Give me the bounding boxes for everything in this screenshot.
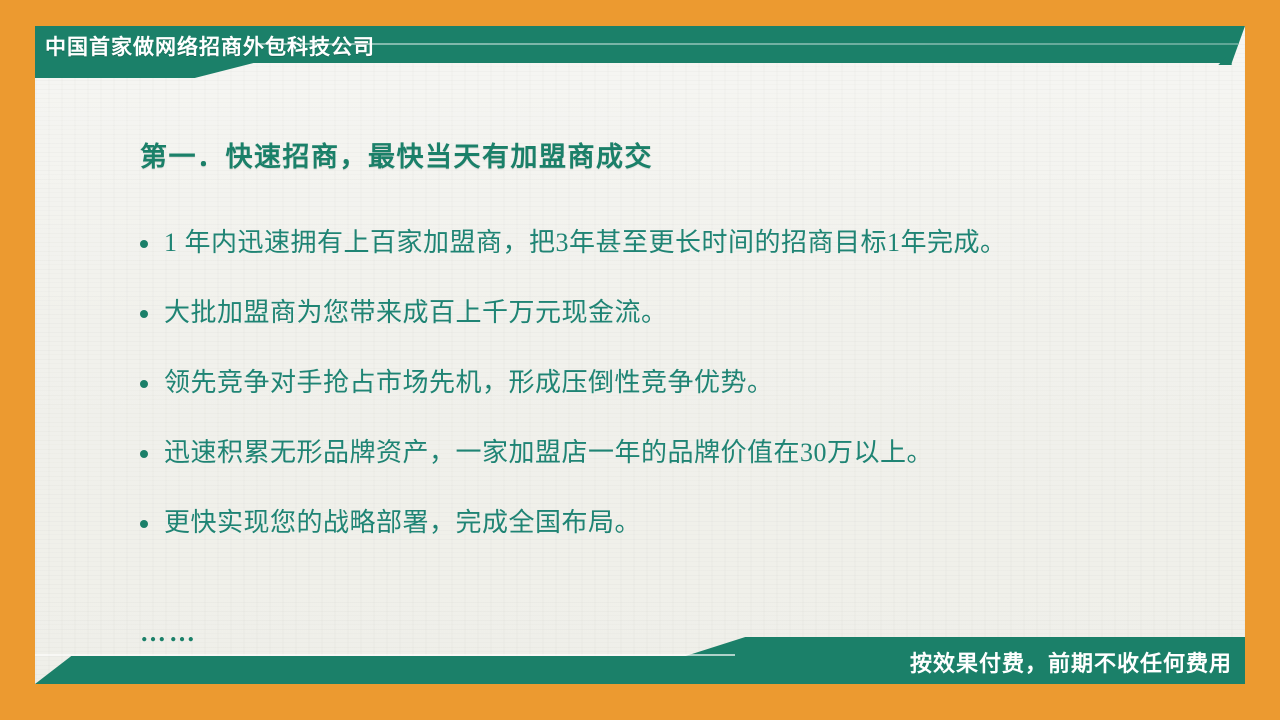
footer-divider-line	[35, 654, 735, 656]
bullet-dot-icon	[140, 380, 148, 388]
bullet-dot-icon	[140, 450, 148, 458]
list-item: 领先竞争对手抢占市场先机，形成压倒性竞争优势。	[140, 368, 1245, 398]
footer-slogan: 按效果付费，前期不收任何费用	[910, 645, 1232, 679]
list-item-text: 迅速积累无形品牌资产，一家加盟店一年的品牌价值在30万以上。	[164, 438, 933, 468]
header-company-tagline: 中国首家做网络招商外包科技公司	[45, 28, 375, 63]
bullet-list: 1 年内迅速拥有上百家加盟商，把3年甚至更长时间的招商目标1年完成。 大批加盟商…	[140, 228, 1245, 578]
list-item-text: 1 年内迅速拥有上百家加盟商，把3年甚至更长时间的招商目标1年完成。	[164, 228, 1007, 258]
header-divider-line	[258, 43, 1238, 45]
bullet-dot-icon	[140, 240, 148, 248]
page-title: 第一．快速招商，最快当天有加盟商成交	[140, 135, 653, 174]
presentation-slide: 中国首家做网络招商外包科技公司 第一．快速招商，最快当天有加盟商成交 1 年内迅…	[0, 0, 1280, 720]
bullet-dot-icon	[140, 520, 148, 528]
list-item: 迅速积累无形品牌资产，一家加盟店一年的品牌价值在30万以上。	[140, 438, 1245, 468]
continuation-ellipsis: ……	[140, 618, 198, 648]
list-item: 1 年内迅速拥有上百家加盟商，把3年甚至更长时间的招商目标1年完成。	[140, 228, 1245, 258]
list-item-text: 大批加盟商为您带来成百上千万元现金流。	[164, 298, 668, 328]
list-item-text: 领先竞争对手抢占市场先机，形成压倒性竞争优势。	[164, 368, 774, 398]
list-item: 更快实现您的战略部署，完成全国布局。	[140, 508, 1245, 538]
bullet-dot-icon	[140, 310, 148, 318]
list-item: 大批加盟商为您带来成百上千万元现金流。	[140, 298, 1245, 328]
slide-content: 第一．快速招商，最快当天有加盟商成交 1 年内迅速拥有上百家加盟商，把3年甚至更…	[35, 78, 1245, 626]
list-item-text: 更快实现您的战略部署，完成全国布局。	[164, 508, 641, 538]
